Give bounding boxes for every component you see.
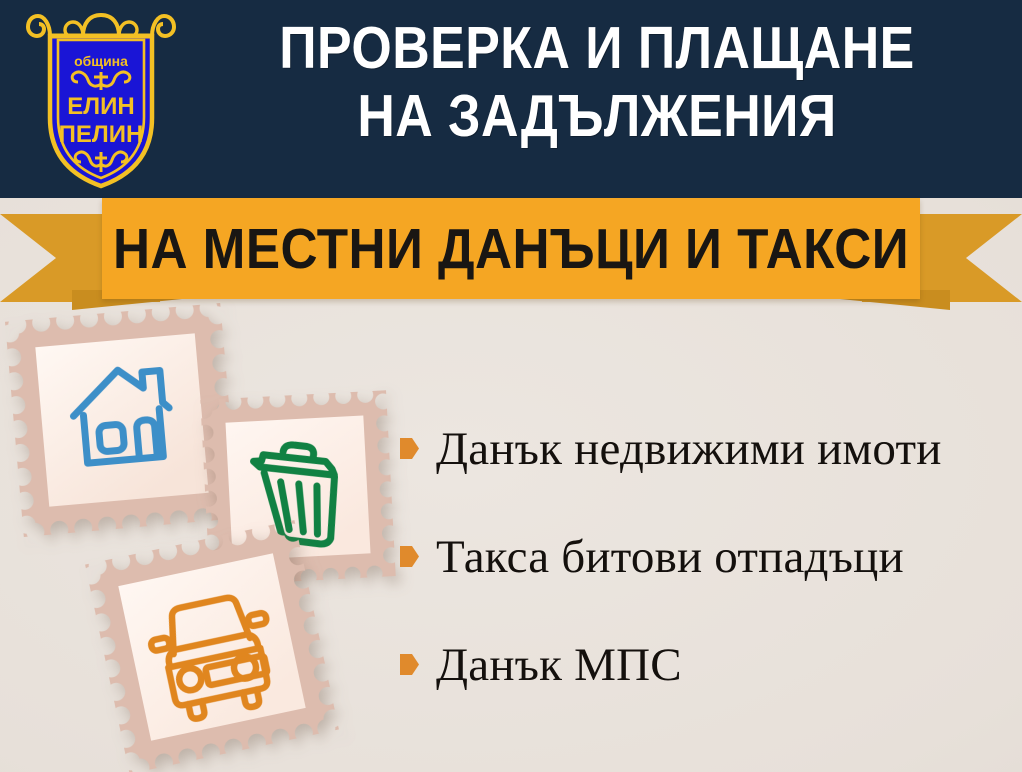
ribbon-label: НА МЕСТНИ ДАНЪЦИ И ТАКСИ — [143, 198, 879, 299]
list-item[interactable]: Данък недвижими имоти — [400, 420, 1010, 478]
crest-word-top: община — [74, 53, 128, 69]
list-item-label: Такса битови отпадъци — [436, 528, 904, 586]
tax-type-list: Данък недвижими имоти Такса битови отпад… — [400, 420, 1010, 744]
list-item-label: Данък МПС — [436, 636, 682, 694]
page-title: ПРОВЕРКА И ПЛАЩАНЕ НА ЗАДЪЛЖЕНИЯ — [230, 14, 964, 150]
crest-name-line-2: ПЕЛИН — [59, 121, 144, 148]
arrow-right-bullet-icon — [400, 545, 419, 568]
municipality-crest: община ЕЛИН ПЕЛИН — [26, 10, 176, 190]
crest-name-line-1: ЕЛИН — [67, 93, 134, 120]
list-item-label: Данък недвижими имоти — [436, 420, 942, 478]
arrow-right-bullet-icon — [400, 653, 419, 676]
ribbon-banner: НА МЕСТНИ ДАНЪЦИ И ТАКСИ — [0, 198, 1022, 310]
crest-svg: община ЕЛИН ПЕЛИН — [26, 10, 176, 190]
list-item[interactable]: Такса битови отпадъци — [400, 528, 1010, 586]
list-item[interactable]: Данък МПС — [400, 636, 1010, 694]
poster-root: ПРОВЕРКА И ПЛАЩАНЕ НА ЗАДЪЛЖЕНИЯ община — [0, 0, 1022, 772]
arrow-right-bullet-icon — [400, 437, 419, 460]
ribbon-body: НА МЕСТНИ ДАНЪЦИ И ТАКСИ — [102, 198, 920, 299]
stamp-vehicle-svg — [85, 520, 339, 772]
stamp-vehicle — [85, 520, 339, 772]
